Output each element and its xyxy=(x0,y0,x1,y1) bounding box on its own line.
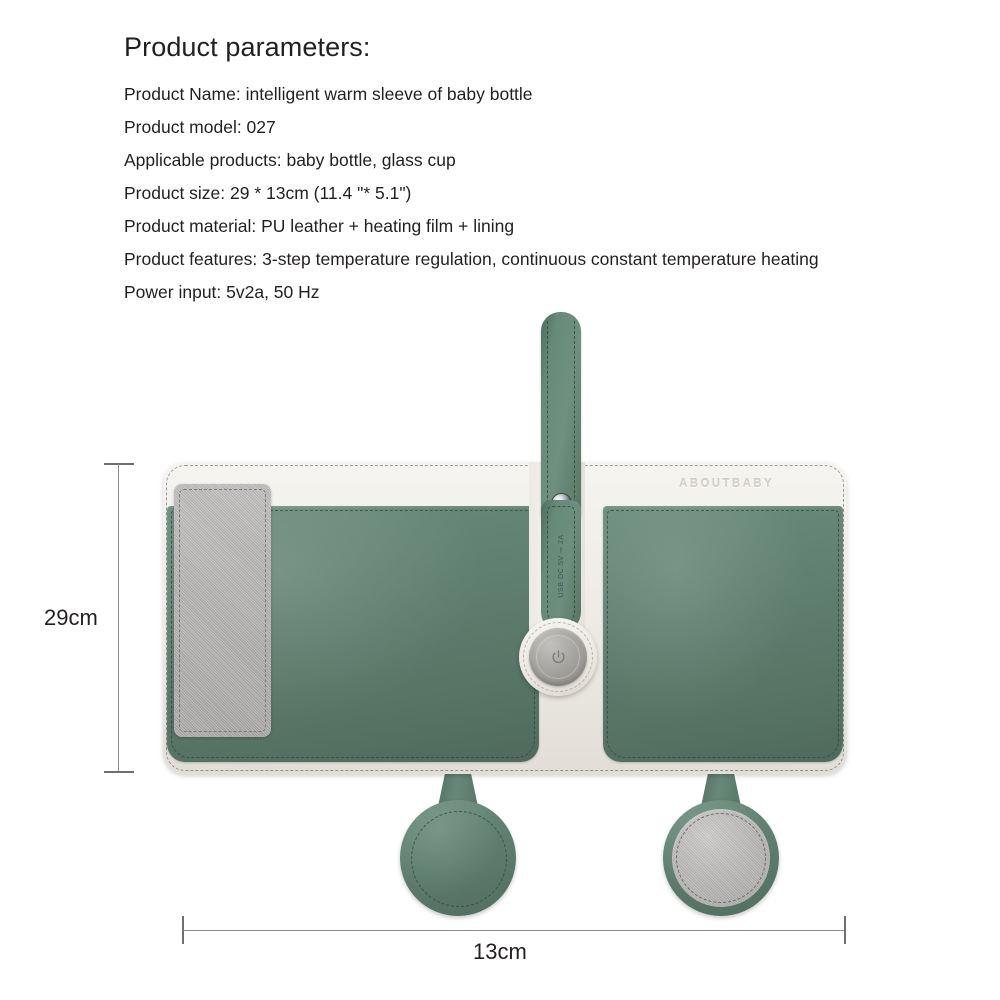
tab-disc-gray-velcro xyxy=(672,809,770,907)
usb-rating-label: USB DC 5V ⎓ 2A xyxy=(556,534,566,597)
strap-stitch-left xyxy=(547,321,548,518)
strap-lower-section: USB DC 5V ⎓ 2A xyxy=(541,500,581,632)
tab-disc-green xyxy=(400,800,516,916)
product-illustration: USB DC 5V ⎓ 2A ABOUTBABY 29cm 13cm xyxy=(0,0,1000,1000)
hanging-strap xyxy=(541,312,581,527)
strap-stitch-right xyxy=(574,321,575,518)
brand-emboss: ABOUTBABY xyxy=(679,478,774,490)
dim-line-height xyxy=(118,464,119,772)
velcro-patch-gray xyxy=(174,484,271,737)
power-symbol-icon xyxy=(550,649,567,666)
dim-label-height: 29cm xyxy=(44,605,98,631)
dim-cap-right xyxy=(844,916,846,944)
bottom-tab-green xyxy=(400,770,516,920)
green-panel-right xyxy=(603,506,843,762)
bottom-tab-gray xyxy=(663,770,779,920)
power-button[interactable] xyxy=(529,628,587,686)
tab-disc-green-stitch xyxy=(411,811,507,907)
dim-line-width xyxy=(183,930,845,931)
tab-disc-gray xyxy=(663,800,779,916)
dim-cap-bottom xyxy=(104,771,134,773)
dim-label-width: 13cm xyxy=(473,939,527,965)
